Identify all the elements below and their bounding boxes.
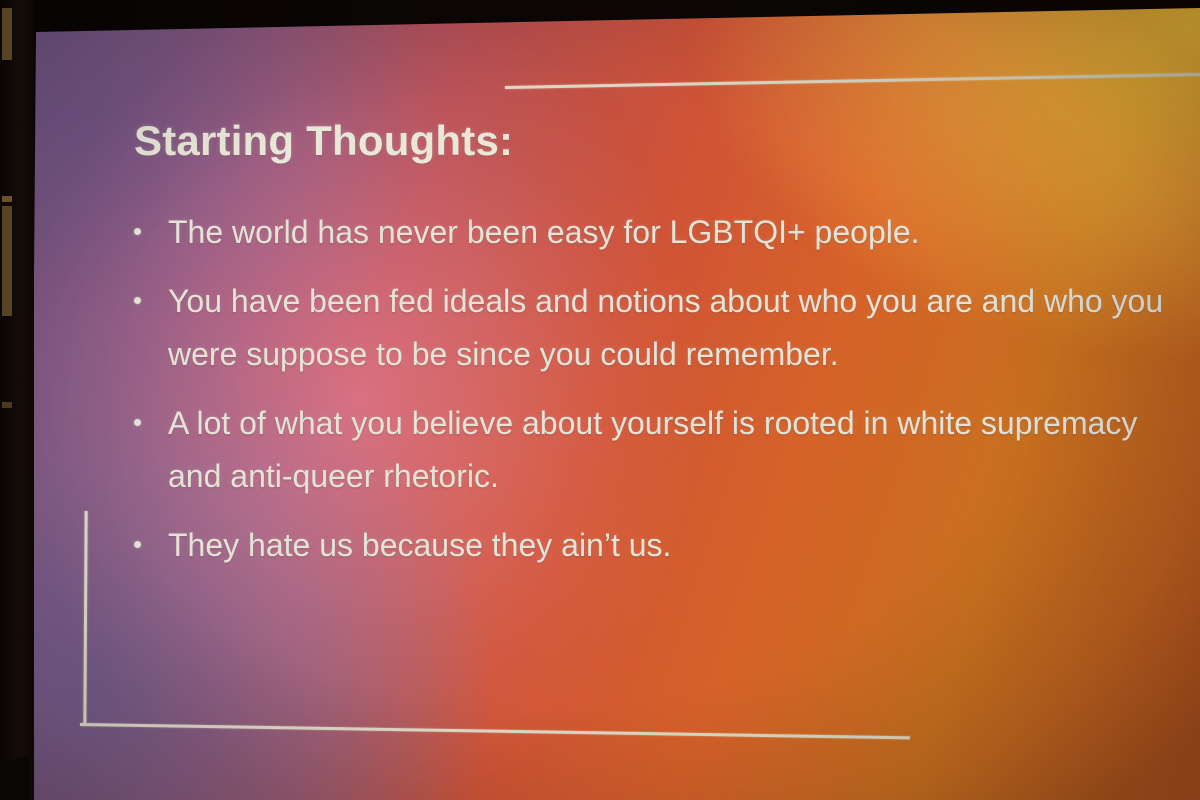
- bullet-item-1: The world has never been easy for LGBTQI…: [130, 206, 1170, 259]
- bullet-dot-icon: [134, 228, 141, 235]
- bullet-text: They hate us because they ain’t us.: [168, 519, 1170, 572]
- bullet-item-4: They hate us because they ain’t us.: [130, 519, 1170, 572]
- bullet-list: The world has never been easy for LGBTQI…: [130, 206, 1170, 572]
- slide-title: Starting Thoughts:: [134, 117, 513, 165]
- wall-glint: [2, 206, 12, 316]
- bullet-text: You have been fed ideals and notions abo…: [168, 275, 1170, 381]
- bullet-item-3: A lot of what you believe about yourself…: [130, 397, 1170, 503]
- projected-slide-photo: Starting Thoughts: The world has never b…: [0, 0, 1200, 800]
- bullet-text: The world has never been easy for LGBTQI…: [168, 206, 1170, 259]
- room-frame-left: [0, 0, 34, 800]
- bullet-dot-icon: [134, 297, 141, 304]
- wall-glint: [2, 8, 12, 60]
- bullet-dot-icon: [134, 541, 141, 548]
- wall-glint: [2, 196, 12, 202]
- bullet-dot-icon: [134, 419, 141, 426]
- bullet-text: A lot of what you believe about yourself…: [168, 397, 1170, 503]
- bullet-item-2: You have been fed ideals and notions abo…: [130, 275, 1170, 381]
- wall-glint: [2, 402, 12, 408]
